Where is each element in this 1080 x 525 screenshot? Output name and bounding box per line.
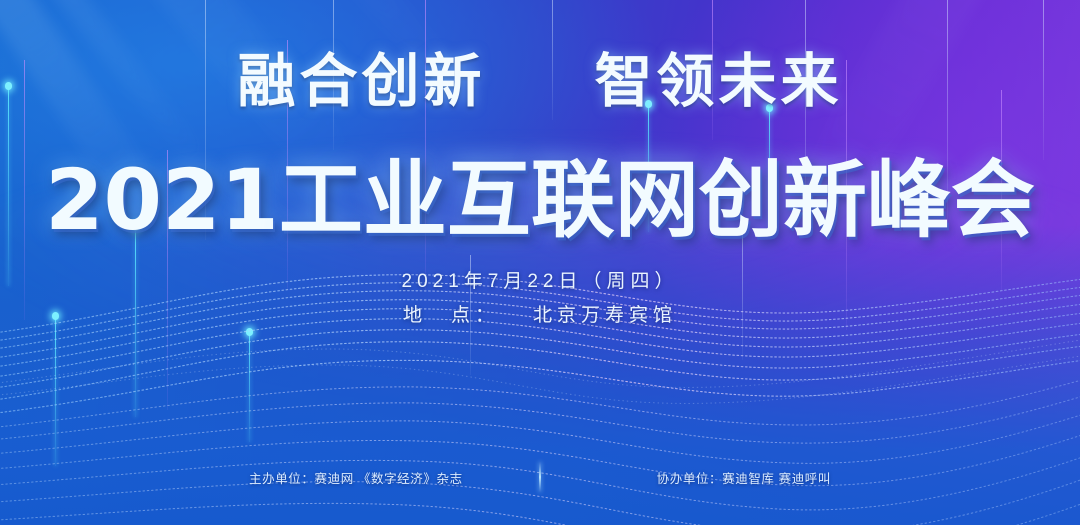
- co-organizer-text: 协办单位：赛迪智库 赛迪呼叫: [541, 468, 831, 487]
- poster-tagline: 融合创新 智领未来: [0, 34, 1080, 118]
- poster-main-title: 2021工业互联网创新峰会: [0, 133, 1080, 254]
- title-year: 2021: [45, 151, 279, 249]
- event-poster: 融合创新 智领未来 2021工业互联网创新峰会 2021年7月22日（周四） 地…: [0, 0, 1080, 525]
- event-location: 地 点：北京万寿宾馆: [0, 300, 1080, 327]
- tagline-left: 融合创新: [237, 49, 485, 114]
- tagline-right: 智领未来: [595, 49, 843, 114]
- title-text: 工业互联网创新峰会: [279, 153, 1035, 247]
- organizer-text: 主办单位：赛迪网 《数字经济》杂志: [249, 468, 539, 487]
- location-label: 地 点：: [403, 305, 499, 326]
- location-value: 北京万寿宾馆: [533, 305, 677, 326]
- event-date: 2021年7月22日（周四）: [0, 266, 1080, 293]
- poster-footer: 主办单位：赛迪网 《数字经济》杂志 协办单位：赛迪智库 赛迪呼叫: [0, 462, 1080, 492]
